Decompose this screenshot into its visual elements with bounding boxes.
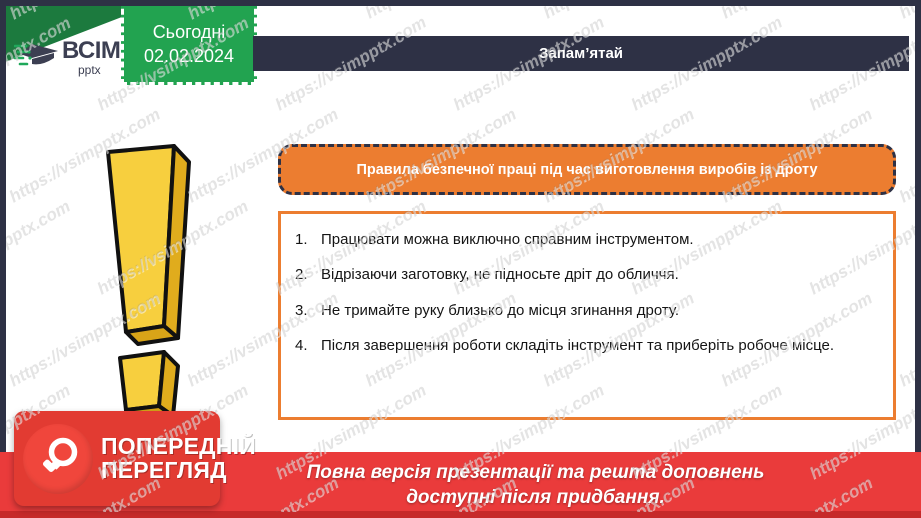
watermark-text: https://vsimpptx.com — [896, 105, 915, 208]
list-item-text: Після завершення роботи складіть інструм… — [321, 334, 879, 358]
list-item: 4. Після завершення роботи складіть інст… — [295, 334, 879, 358]
list-item-text: Відрізаючи заготовку, не підносьте дріт … — [321, 263, 879, 287]
rules-list-box: 1. Працювати можна виключно справним інс… — [278, 211, 896, 420]
preview-line-1: ПОПЕРЕДНІЙ — [101, 435, 256, 458]
watermark-text: https://vsimpptx.com — [718, 6, 876, 23]
exclamation-mark-3d-icon — [86, 134, 246, 414]
watermark-text: https://vsimpptx.com — [896, 289, 915, 392]
page-title: Запам’ятай — [539, 45, 623, 62]
rule-banner: Правила безпечної праці під час виготовл… — [278, 144, 896, 195]
footer-line-2: доступні після придбання. — [307, 485, 765, 510]
watermark-text: https://vsimpptx.com — [540, 6, 698, 23]
list-item: 1. Працювати можна виключно справним інс… — [295, 228, 879, 252]
footer-bottom-edge — [0, 511, 921, 518]
list-item-text: Працювати можна виключно справним інстру… — [321, 228, 879, 252]
list-item-number: 2. — [295, 263, 321, 287]
magnifier-icon — [23, 424, 93, 494]
list-item: 3. Не тримайте руку близько до місця зги… — [295, 299, 879, 323]
magnifier-glyph-icon — [34, 435, 82, 483]
list-item-text: Не тримайте руку близько до місця згинан… — [321, 299, 879, 323]
logo-brand: ВСІМ — [62, 39, 120, 63]
footer-line-1: Повна версія презентації та решта доповн… — [307, 460, 765, 485]
preview-badge[interactable]: ПОПЕРЕДНІЙ ПЕРЕГЛЯД — [14, 411, 220, 506]
list-item-number: 3. — [295, 299, 321, 323]
section-header-bar: Запам’ятай — [253, 36, 909, 71]
list-item-number: 4. — [295, 334, 321, 358]
logo-wordmark: ВСІМ pptx — [62, 39, 120, 76]
today-label: Сьогодні — [153, 22, 226, 43]
today-date: 02.02.2024 — [144, 46, 234, 67]
preview-badge-text: ПОПЕРЕДНІЙ ПЕРЕГЛЯД — [101, 435, 256, 482]
rules-list: 1. Працювати можна виключно справним інс… — [295, 228, 879, 358]
watermark-text: https://vsimpptx.com — [896, 6, 915, 23]
today-date-box: Сьогодні 02.02.2024 — [121, 6, 257, 85]
list-item-number: 1. — [295, 228, 321, 252]
watermark-text: https://vsimpptx.com — [362, 6, 520, 23]
list-item: 2. Відрізаючи заготовку, не підносьте др… — [295, 263, 879, 287]
brand-logo: ВСІМ pptx — [14, 32, 126, 82]
preview-line-2: ПЕРЕГЛЯД — [101, 459, 256, 482]
graduation-cap-icon — [14, 37, 60, 77]
rule-banner-text: Правила безпечної праці під час виготовл… — [356, 162, 817, 178]
watermark-text: https://vsimpptx.com — [6, 197, 74, 300]
logo-suffix: pptx — [78, 64, 101, 76]
